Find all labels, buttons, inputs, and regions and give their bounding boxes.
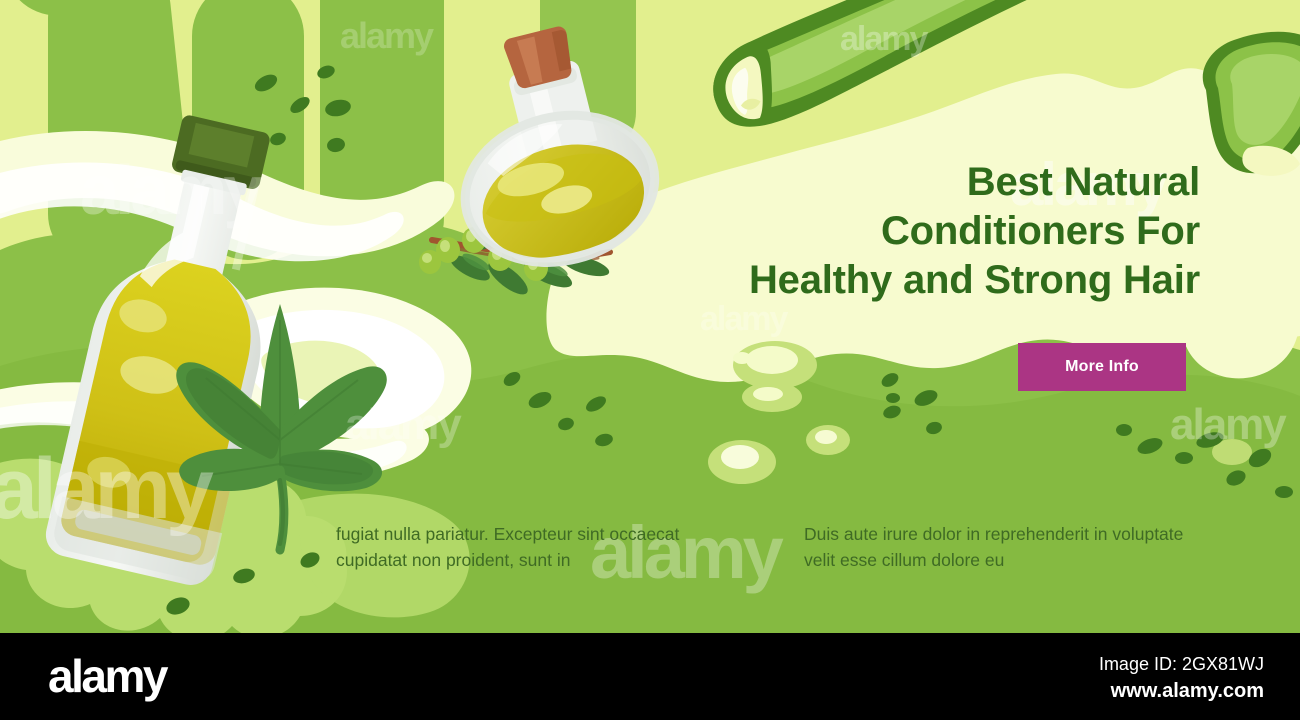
- footer-meta: Image ID: 2GX81WJ www.alamy.com: [1099, 651, 1264, 706]
- paragraph-left: fugiat nulla pariatur. Excepteur sint oc…: [336, 521, 686, 574]
- page-title: Best Natural Conditioners For Healthy an…: [600, 158, 1200, 304]
- headline-line-2: Conditioners For: [600, 207, 1200, 256]
- headline-line-3: Healthy and Strong Hair: [600, 256, 1200, 305]
- more-info-button[interactable]: More Info: [1018, 343, 1186, 391]
- headline-line-1: Best Natural: [600, 158, 1200, 207]
- stock-photo-footer: alamy Image ID: 2GX81WJ www.alamy.com: [0, 633, 1300, 720]
- alamy-logo: alamy: [48, 653, 166, 699]
- paragraph-right: Duis aute irure dolor in reprehenderit i…: [804, 521, 1194, 574]
- alamy-url: www.alamy.com: [1099, 677, 1264, 706]
- banner-screenshot: alamy alamy alamy alamy alamy alamy alam…: [0, 0, 1300, 720]
- image-id-label: Image ID: 2GX81WJ: [1099, 651, 1264, 677]
